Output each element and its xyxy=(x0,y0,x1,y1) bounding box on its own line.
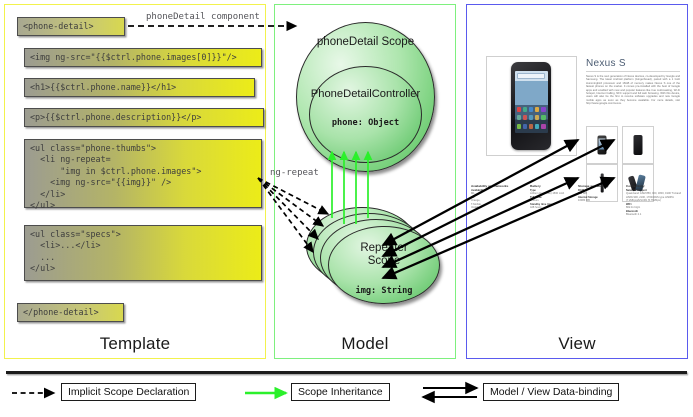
spec-value: 428 hours xyxy=(530,206,577,210)
repeater-scope-label: RepeaterScope xyxy=(328,242,440,268)
phone-hero-image xyxy=(486,56,577,156)
code-img-line: <img ng-src="{{$ctrl.phone.images[0]}}"/… xyxy=(24,48,262,67)
repeater-property-label: img: String xyxy=(328,286,440,296)
view-thumbnail[interactable] xyxy=(622,126,654,164)
diagram-canvas: <phone-detail> <img ng-src="{{$ctrl.phon… xyxy=(0,0,693,417)
code-open-tag: <phone-detail> xyxy=(17,17,125,36)
legend-divider xyxy=(6,371,687,374)
thumbnail-phone-front-black xyxy=(634,135,643,155)
legend-item-scope-inheritance: Scope Inheritance xyxy=(291,383,390,401)
code-h1-line: <h1>{{$ctrl.phone.name}}</h1> xyxy=(24,78,255,97)
thumbnail-phone-front-screen xyxy=(598,136,607,155)
repeater-label-line1: Repeater xyxy=(360,242,407,254)
repeater-label-line2: Scope xyxy=(368,255,401,267)
spec-value: M1, O2, Orange, T-Mobile, Vodafone xyxy=(471,192,518,210)
code-close-tag: </phone-detail> xyxy=(17,303,124,322)
spec-column: Availability and Networks Availability M… xyxy=(471,185,518,210)
spec-column: Storage and Memory RAM 512 MB Internal S… xyxy=(578,185,625,203)
panel-label-model: Model xyxy=(274,334,456,354)
code-specs-block: <ul class="specs"> <li>...</li> ... </ul… xyxy=(24,225,262,281)
spec-value: 16384 MB xyxy=(578,199,625,203)
view-phone-description: Nexus S is the next generation of Nexus … xyxy=(586,75,680,121)
spec-value: Bluetooth 2.1 xyxy=(626,213,682,217)
view-phone-name: Nexus S xyxy=(586,58,626,69)
spec-column: Connectivity Network Support Quad-band G… xyxy=(626,185,682,217)
annotation-phone-detail-component: phoneDetail component xyxy=(146,12,260,22)
title-divider xyxy=(586,71,680,72)
phone-detail-controller-bubble xyxy=(309,66,422,163)
controller-property-label: phone: Object xyxy=(300,118,431,128)
spec-column: Battery Type Lithium Ion (Li-Ion) 1500 m… xyxy=(530,185,577,210)
phone-device-illustration xyxy=(511,62,551,150)
code-thumbs-block: <ul class="phone-thumbs"> <li ng-repeat=… xyxy=(24,139,262,208)
code-p-line: <p>{{$ctrl.phone.description}}</p> xyxy=(24,108,264,127)
panel-label-view: View xyxy=(466,334,688,354)
legend-item-model-view-databinding: Model / View Data-binding xyxy=(483,383,619,401)
spec-value: Quad-band GSM 850, 900, 1800, 1900 Tri-b… xyxy=(626,192,682,203)
panel-label-template: Template xyxy=(4,334,266,354)
view-thumbnail[interactable] xyxy=(586,126,618,164)
annotation-ng-repeat: ng-repeat xyxy=(270,168,319,178)
phone-detail-scope-label: phoneDetail Scope xyxy=(296,36,435,48)
phone-screen xyxy=(515,71,548,133)
legend-item-implicit-scope-declaration: Implicit Scope Declaration xyxy=(61,383,196,401)
phone-detail-controller-label: PhoneDetailController xyxy=(300,88,431,100)
legend-icon-double-arrow xyxy=(423,388,477,397)
